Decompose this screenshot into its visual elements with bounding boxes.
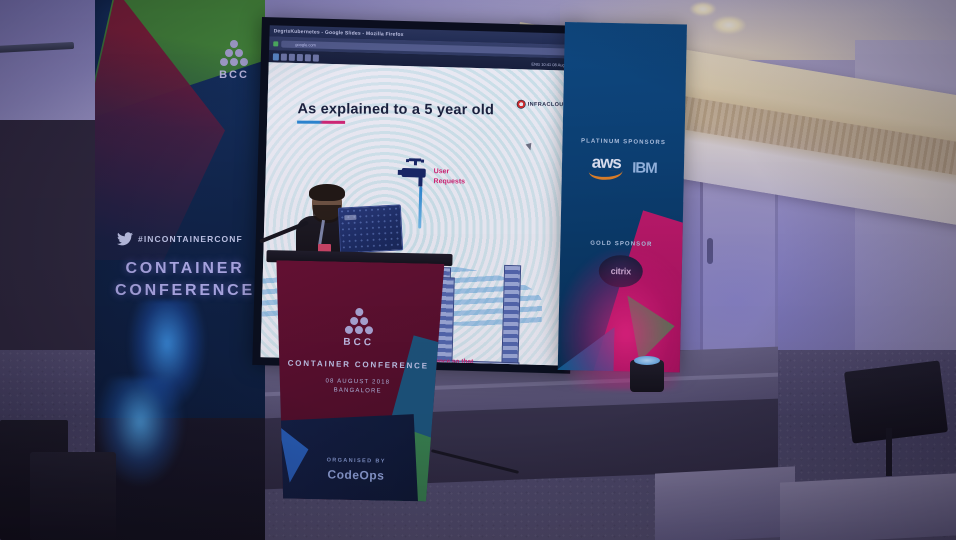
bcc-dots-icon (275, 306, 444, 336)
podium-bcc-logo: BCC (275, 306, 444, 350)
platinum-sponsors-label: PLATINUM SPONSORS (562, 138, 684, 147)
podium-front-panel: BCC CONTAINER CONFERENCE 08 AUGUST 2018 … (271, 260, 444, 501)
speaker-hair (309, 184, 345, 201)
pa-speaker-right (844, 360, 948, 443)
speaker-beard (313, 205, 341, 223)
pa-speaker-stand (886, 428, 892, 476)
bcc-logo-text: BCC (211, 69, 257, 81)
infracloud-logo-text: INFRACLOUD (527, 101, 567, 107)
infracloud-mark-icon (516, 100, 525, 109)
hashtag-text: #INCONTAINERCONF (138, 234, 243, 244)
bcc-dots-icon (211, 40, 257, 66)
floor-riser-block (780, 473, 956, 540)
user-requests-line2: Requests (433, 177, 465, 187)
taskbar-icon[interactable] (305, 54, 311, 61)
ceiling-downlight (712, 16, 746, 34)
faucet-icon (397, 158, 432, 189)
url-text: google.com (295, 41, 316, 47)
laptop (338, 204, 403, 253)
taskbar-icon[interactable] (281, 53, 287, 60)
bcc-logo: BCC (211, 40, 257, 81)
gold-sponsor-label: GOLD SPONSOR (560, 240, 682, 249)
laptop-lid (338, 204, 403, 253)
podium-event-details: 08 AUGUST 2018 BANGALORE (274, 376, 442, 398)
ibm-logo-text: IBM (632, 159, 657, 177)
taskbar-icon[interactable] (313, 54, 319, 61)
taskbar-icon[interactable] (289, 53, 295, 60)
floor-riser-block (655, 466, 795, 540)
user-requests-line1: User (434, 167, 466, 177)
laptop-sticker (344, 215, 356, 221)
ceiling-downlight (690, 2, 716, 16)
slide-title: As explained to a 5 year old (297, 101, 494, 118)
banner-title-line2: CONFERENCE (111, 280, 259, 302)
aws-logo-text: aws (592, 155, 621, 171)
platinum-sponsor-logos: aws IBM (562, 154, 684, 182)
taskbar-icon[interactable] (273, 53, 279, 60)
user-requests-label: User Requests (433, 167, 465, 187)
slide-title-underline (297, 121, 345, 124)
infracloud-logo: INFRACLOUD (516, 100, 567, 109)
pa-speaker-left-lower (30, 452, 116, 540)
podium-bcc-text: BCC (275, 335, 443, 350)
banner-title-line1: CONTAINER (111, 258, 259, 280)
par-light-lens (634, 356, 660, 365)
taskbar-icon[interactable] (297, 53, 303, 60)
container-bar (501, 265, 521, 363)
banner-event-title: CONTAINER CONFERENCE (111, 258, 259, 302)
podium: BCC CONTAINER CONFERENCE 08 AUGUST 2018 … (263, 250, 448, 502)
laptop-lid-texture (339, 205, 402, 252)
aws-swoosh-icon (589, 170, 623, 180)
twitter-bird-icon (117, 232, 133, 246)
conference-stage-photo: BCC #INCONTAINERCONF CONTAINER CONFERENC… (0, 0, 956, 540)
twitter-hashtag: #INCONTAINERCONF (117, 232, 243, 246)
tab-favicon-icon (273, 41, 278, 46)
aws-logo: aws (589, 155, 624, 181)
